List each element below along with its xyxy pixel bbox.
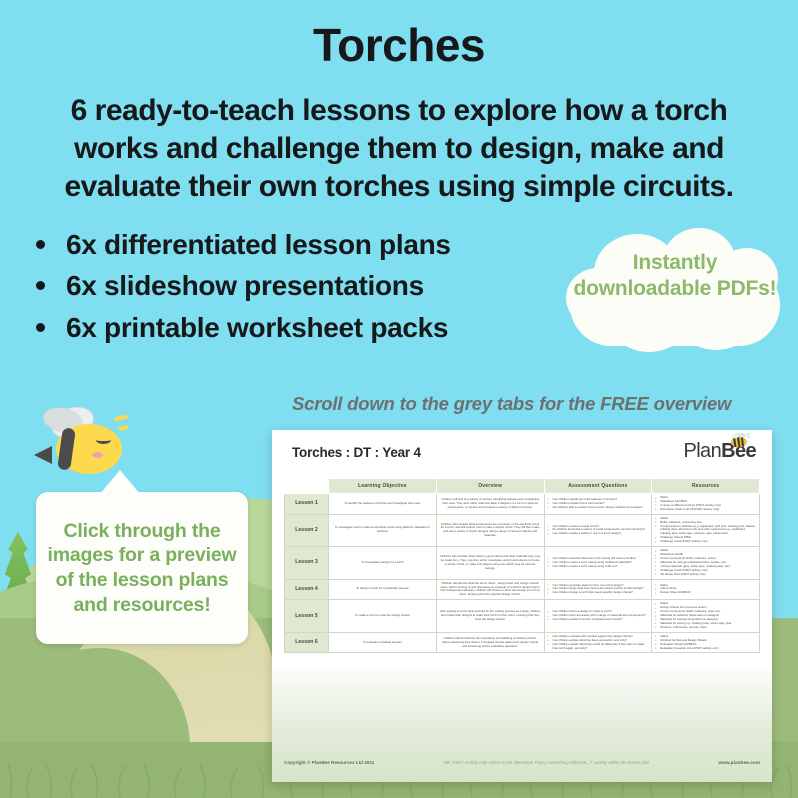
footer-note: NB: 'FSD? Activity only' refers to the a…	[374, 760, 718, 765]
subheading: 6 ready-to-teach lessons to explore how …	[40, 92, 758, 206]
table-row: Lesson 6To evaluate a finished productCh…	[285, 632, 760, 653]
lesson-overview: Children will discuss what the terms 'cl…	[436, 579, 544, 600]
lesson-label: Lesson 2	[285, 514, 329, 546]
lesson-overview: Children will first discuss the importan…	[436, 632, 544, 653]
lesson-overview: After looking at some hints and tips for…	[436, 600, 544, 632]
document-footer: Copyright © PlanBee Resources Ltd 2021 N…	[284, 760, 760, 766]
lesson-label: Lesson 6	[285, 632, 329, 653]
lesson-label: Lesson 5	[285, 600, 329, 632]
planbee-logo: PlanBee	[683, 440, 756, 463]
table-row: Lesson 5To make a torch to meet the desi…	[285, 600, 760, 632]
list-item: 3D Shape Nets (FSD? activity only)	[655, 573, 756, 577]
lesson-assessment-questions: Can children evaluate their product agai…	[544, 632, 652, 653]
logo-bee-icon	[726, 432, 750, 448]
lesson-assessment-questions: Can children follow a design to create a…	[544, 600, 652, 632]
lesson-resources: SlidesWorksheet 3A/3BCircuit components …	[652, 547, 760, 579]
list-item: Evaluation Question Lists (FSD? activity…	[655, 647, 756, 651]
table-row: Lesson 2To investigate how to make an el…	[285, 514, 760, 546]
poster-canvas: Torches 6 ready-to-teach lessons to expl…	[0, 0, 798, 798]
lesson-assessment-questions: Can children generate ideas for their ow…	[544, 579, 652, 600]
speech-bubble-text: Click through the images for a preview o…	[36, 492, 248, 644]
lesson-plan-table: Learning Objective Overview Assessment Q…	[284, 478, 760, 653]
table-header-overview: Overview	[436, 479, 544, 494]
list-item: Design Sheet 4A/4B/4C	[655, 591, 756, 595]
table-header-row: Learning Objective Overview Assessment Q…	[285, 479, 760, 494]
list-item: Can children explain how their completed…	[548, 618, 649, 622]
bee-mascot-icon	[30, 400, 126, 476]
list-item: Are children able to explain how a torch…	[548, 506, 649, 510]
speech-bubble: Click through the images for a preview o…	[36, 492, 248, 644]
lesson-assessment-questions: Can children describe what their torch c…	[544, 547, 652, 579]
footer-url: www.planbee.com	[718, 761, 760, 766]
scroll-instruction: Scroll down to the grey tabs for the FRE…	[292, 393, 792, 415]
table-row: Lesson 3To investigate casings for a tor…	[285, 547, 760, 579]
lesson-objective: To identify the features of torches and …	[329, 494, 437, 515]
feature-list: 6x differentiated lesson plans 6x slides…	[28, 224, 548, 348]
lesson-resources: SlidesWorksheet 1A/1B/1CA range of diffe…	[652, 494, 760, 515]
list-item: 6x differentiated lesson plans	[28, 224, 548, 265]
table-header-objective: Learning Objective	[329, 479, 437, 494]
list-item: 6x slideshow presentations	[28, 265, 548, 306]
list-item: Discussion Cards A and B (FSD? activity …	[655, 508, 756, 512]
lesson-label: Lesson 4	[285, 579, 329, 600]
lesson-assessment-questions: Can children identify the main features …	[544, 494, 652, 515]
lesson-resources: SlidesClient CardsDesign Sheet 4A/4B/4C	[652, 579, 760, 600]
lesson-objective: To design a torch for a particular purpo…	[329, 579, 437, 600]
table-header-resources: Resources	[652, 479, 760, 494]
lesson-resources: SlidesBulbs, batteries, connecting wireC…	[652, 514, 760, 546]
table-row: Lesson 1To identify the features of torc…	[285, 494, 760, 515]
list-item: 6x printable worksheet packs	[28, 307, 548, 348]
logo-plan-text: Plan	[683, 440, 721, 462]
lesson-objective: To make a torch to meet the design crite…	[329, 600, 437, 632]
list-item: Challenge Cards (FSD? activity only)	[655, 540, 756, 544]
lesson-label: Lesson 1	[285, 494, 329, 515]
lesson-assessment-questions: Can children create a simple circuit?Do …	[544, 514, 652, 546]
cloud-badge: Instantly downloadable PDFs!	[566, 228, 784, 358]
lesson-objective: To evaluate a finished product	[329, 632, 437, 653]
list-item: Can children create a switch to use in a…	[548, 532, 649, 536]
table-header-blank	[285, 479, 329, 494]
lesson-overview: Children will consider what components a…	[436, 514, 544, 546]
list-item: Can children explain what they would do …	[548, 643, 649, 651]
lesson-overview: Children will consider what makes a good…	[436, 547, 544, 579]
page-title: Torches	[0, 18, 798, 72]
list-item: Can children design a torch that meets s…	[548, 591, 649, 595]
table-body: Lesson 1To identify the features of torc…	[285, 494, 760, 653]
list-item: Can children create a torch casing using…	[548, 565, 649, 569]
lesson-label: Lesson 3	[285, 547, 329, 579]
table-header-questions: Assessment Questions	[544, 479, 652, 494]
lesson-resources: SlidesFinished torches and Design Sheets…	[652, 632, 760, 653]
lesson-objective: To investigate casings for a torch	[329, 547, 437, 579]
lesson-overview: Children will look at a variety of torch…	[436, 494, 544, 515]
cloud-badge-text: Instantly downloadable PDFs!	[566, 250, 784, 303]
footer-copyright: Copyright © PlanBee Resources Ltd 2021	[284, 760, 374, 765]
table-row: Lesson 4To design a torch for a particul…	[285, 579, 760, 600]
lesson-overview-document[interactable]: Torches : DT : Year 4 PlanBee Learning O…	[272, 430, 772, 782]
list-item: Scissors, craft knives, pencils, rulers	[655, 626, 756, 630]
lesson-resources: SlidesDesign Sheets from previous lesson…	[652, 600, 760, 632]
lesson-objective: To investigate how to make an electrical…	[329, 514, 437, 546]
